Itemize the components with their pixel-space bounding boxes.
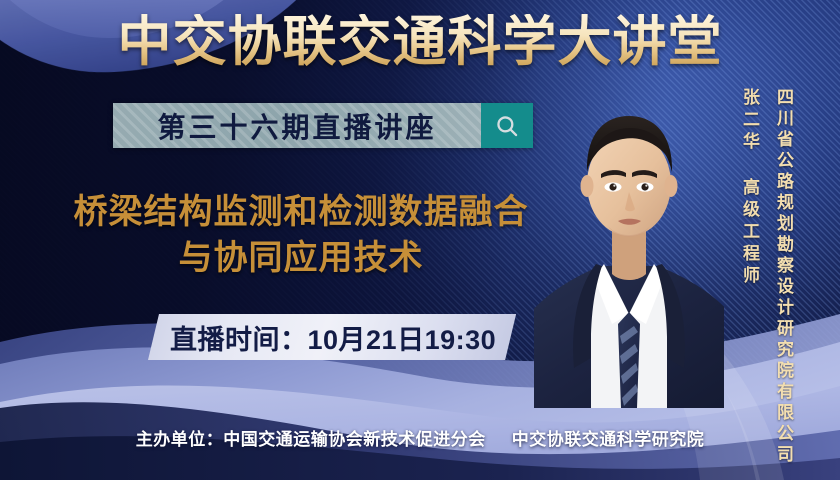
search-icon [494, 113, 520, 139]
webinar-poster: 中交协联交通科学大讲堂 第三十六期直播讲座 桥梁结构监测和检测数据融合 与协同应… [0, 0, 840, 480]
topic-line-1: 桥梁结构监测和检测数据融合 [46, 190, 556, 236]
footer-organizers: 主办单位：中国交通运输协会新技术促进分会中交协联交通科学研究院 [0, 425, 840, 450]
footer-org-2: 中交协联交通科学研究院 [512, 430, 705, 449]
footer-org-1: 中国交通运输协会新技术促进分会 [223, 430, 486, 449]
broadcast-time-pill: 直播时间：10月21日19:30 [148, 314, 516, 360]
broadcast-time-text: 直播时间：10月21日19:30 [170, 318, 496, 357]
search-icon-box[interactable] [481, 103, 533, 148]
speaker-organization-column: 四川省公路规划勘察设计研究院有限公司 [771, 88, 796, 466]
footer-prefix: 主办单位： [136, 430, 224, 449]
episode-band: 第三十六期直播讲座 [113, 103, 533, 148]
speaker-name-column: 张二华 高级工程师 [737, 88, 762, 288]
speaker-portrait [534, 68, 724, 408]
page-title: 中交协联交通科学大讲堂 [0, 14, 840, 71]
topic-line-2: 与协同应用技术 [46, 236, 556, 282]
episode-label: 第三十六期直播讲座 [157, 106, 436, 146]
episode-band-body: 第三十六期直播讲座 [113, 103, 481, 148]
topic-title: 桥梁结构监测和检测数据融合 与协同应用技术 [46, 190, 556, 281]
